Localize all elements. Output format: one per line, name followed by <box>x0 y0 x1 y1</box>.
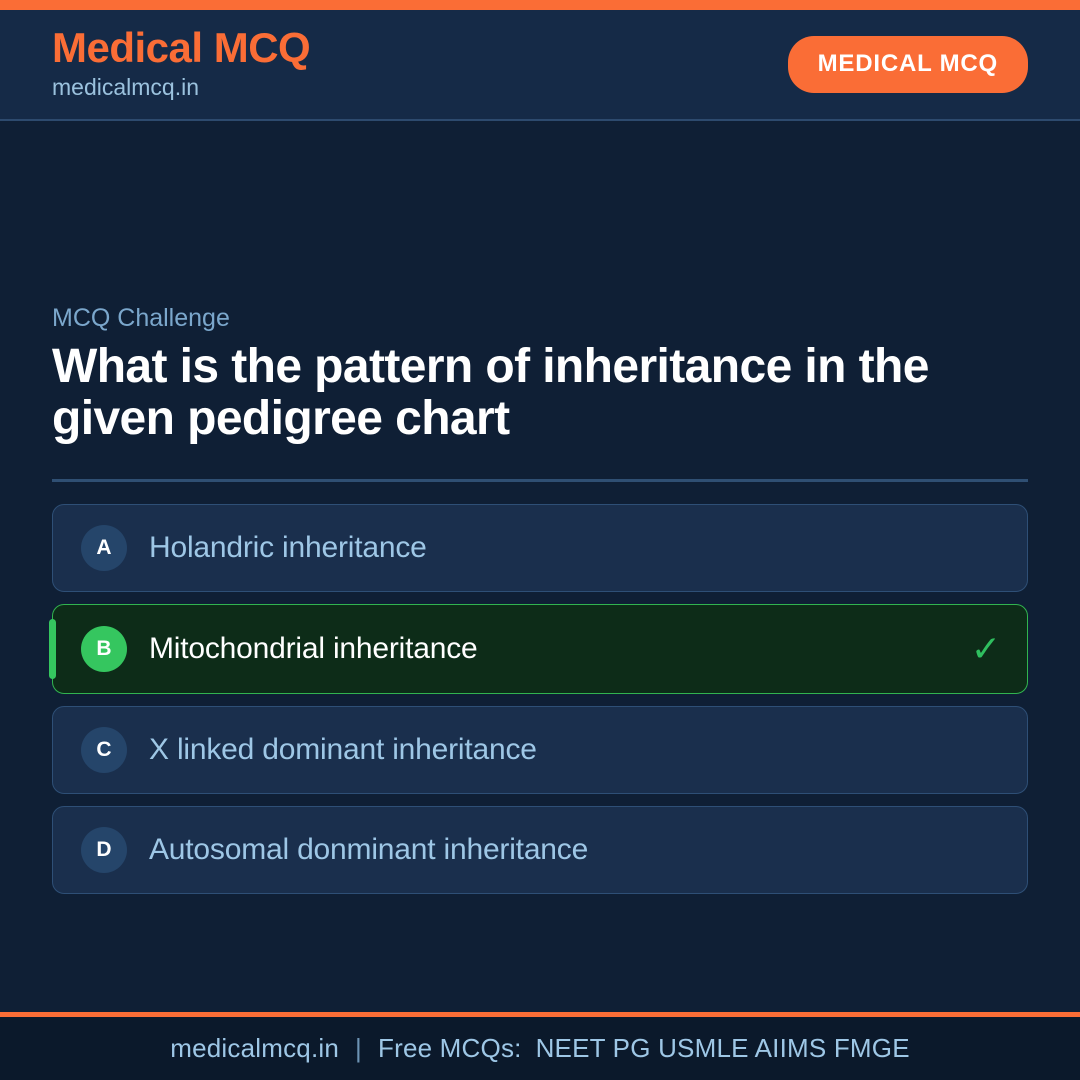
page-footer: medicalmcq.in | Free MCQs: NEET PG USMLE… <box>0 1017 1080 1080</box>
page-header: Medical MCQ medicalmcq.in MEDICAL MCQ <box>0 10 1080 121</box>
option-letter-badge: D <box>81 827 127 873</box>
top-accent-rule <box>0 0 1080 10</box>
option-c[interactable]: C X linked dominant inheritance ✓ <box>52 706 1028 794</box>
option-b[interactable]: B Mitochondrial inheritance ✓ <box>52 604 1028 694</box>
footer-website[interactable]: medicalmcq.in <box>170 1033 339 1064</box>
mcq-card: Medical MCQ medicalmcq.in MEDICAL MCQ MC… <box>0 0 1080 1080</box>
brand-title: Medical MCQ <box>52 26 310 71</box>
option-d[interactable]: D Autosomal donminant inheritance ✓ <box>52 806 1028 894</box>
check-icon: ✓ <box>971 631 1001 667</box>
footer-prefix: Free MCQs: <box>378 1033 522 1064</box>
option-label: Autosomal donminant inheritance <box>149 833 971 867</box>
header-badge[interactable]: MEDICAL MCQ <box>788 36 1028 93</box>
brand: Medical MCQ medicalmcq.in <box>52 26 310 102</box>
correct-accent-bar <box>49 619 56 679</box>
option-label: Mitochondrial inheritance <box>149 632 971 666</box>
top-spacer <box>52 121 1028 303</box>
option-letter-badge: B <box>81 626 127 672</box>
answer-options: A Holandric inheritance ✓ B Mitochondria… <box>52 504 1028 894</box>
footer-separator: | <box>355 1033 362 1064</box>
question-divider <box>52 479 1028 482</box>
brand-website: medicalmcq.in <box>52 73 310 103</box>
option-label: X linked dominant inheritance <box>149 733 971 767</box>
question-eyebrow: MCQ Challenge <box>52 303 1028 333</box>
main-content: MCQ Challenge What is the pattern of inh… <box>0 121 1080 1012</box>
option-letter-badge: A <box>81 525 127 571</box>
footer-exams: NEET PG USMLE AIIMS FMGE <box>536 1033 910 1064</box>
option-letter-badge: C <box>81 727 127 773</box>
question-text: What is the pattern of inheritance in th… <box>52 341 1028 445</box>
option-label: Holandric inheritance <box>149 531 971 565</box>
option-a[interactable]: A Holandric inheritance ✓ <box>52 504 1028 592</box>
